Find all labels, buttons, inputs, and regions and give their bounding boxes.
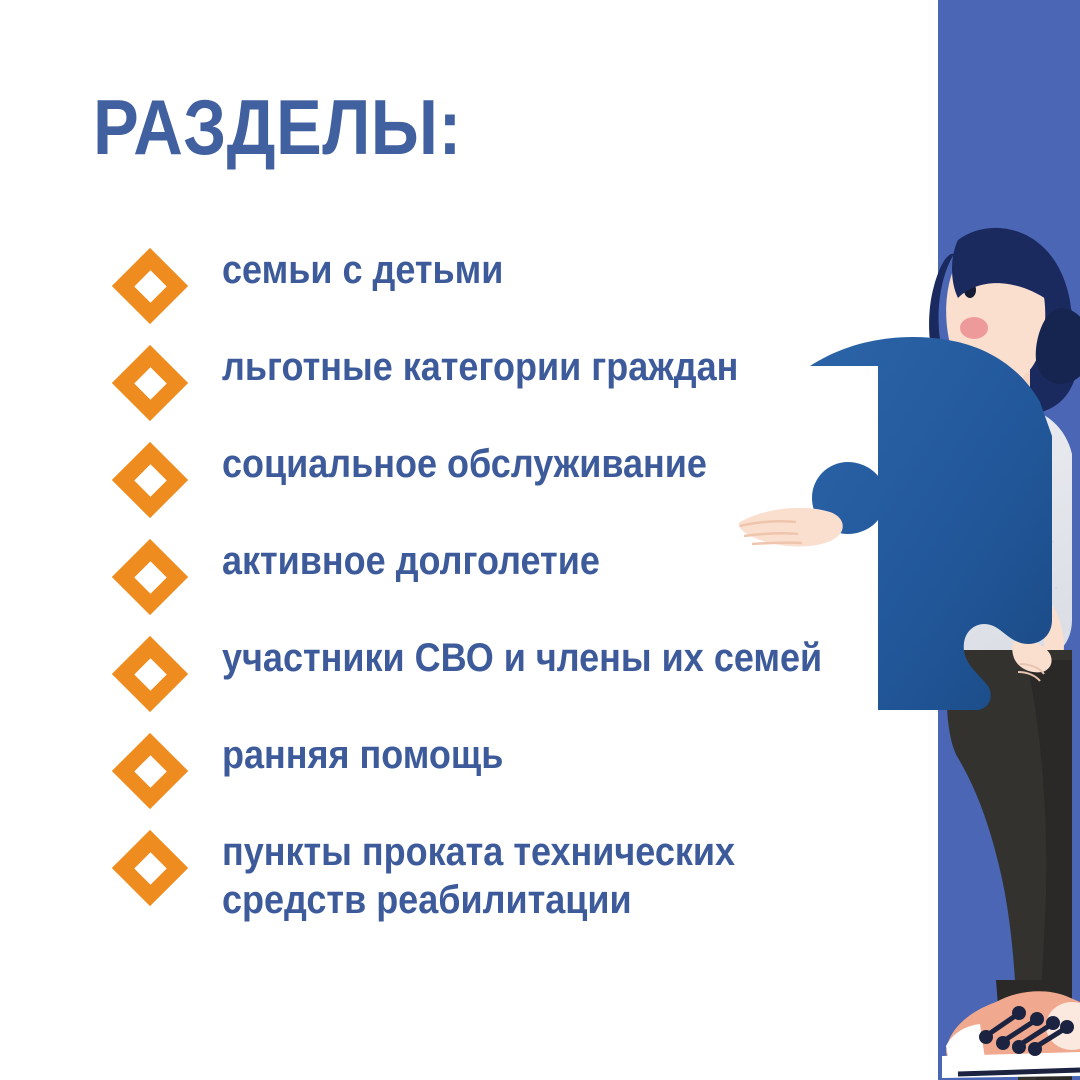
list-item[interactable]: ранняя помощь xyxy=(100,723,930,820)
list-item[interactable]: участники СВО и члены их семей xyxy=(100,626,930,723)
list-item[interactable]: льготные категории граждан xyxy=(100,335,930,432)
list-item-label: участники СВО и члены их семей xyxy=(222,626,822,682)
diamond-bullet-icon xyxy=(112,539,188,615)
diamond-bullet-icon xyxy=(112,733,188,809)
list-item[interactable]: пункты проката технических средств реаби… xyxy=(100,820,930,924)
sneaker-shoe xyxy=(942,980,1080,1078)
list-item-label: активное долголетие xyxy=(222,529,600,585)
diamond-bullet-icon xyxy=(112,248,188,324)
diamond-bullet-icon xyxy=(112,636,188,712)
list-item-label: льготные категории граждан xyxy=(222,335,738,391)
list-item-label: социальное обслуживание xyxy=(222,432,707,488)
list-item-label: пункты проката технических средств реаби… xyxy=(222,820,859,924)
sections-list: семьи с детьми льготные категории гражда… xyxy=(100,238,930,924)
poster-canvas: РАЗДЕЛЫ: семьи с детьми льготные категор… xyxy=(0,0,1080,1080)
page-title: РАЗДЕЛЫ: xyxy=(93,88,462,166)
list-item-label: семьи с детьми xyxy=(222,238,503,294)
list-item[interactable]: активное долголетие xyxy=(100,529,930,626)
list-item-label: ранняя помощь xyxy=(222,723,503,779)
diamond-bullet-icon xyxy=(112,830,188,906)
list-item[interactable]: социальное обслуживание xyxy=(100,432,930,529)
diamond-bullet-icon xyxy=(112,345,188,421)
list-item[interactable]: семьи с детьми xyxy=(100,238,930,335)
cheek-blush xyxy=(960,317,988,339)
diamond-bullet-icon xyxy=(112,442,188,518)
